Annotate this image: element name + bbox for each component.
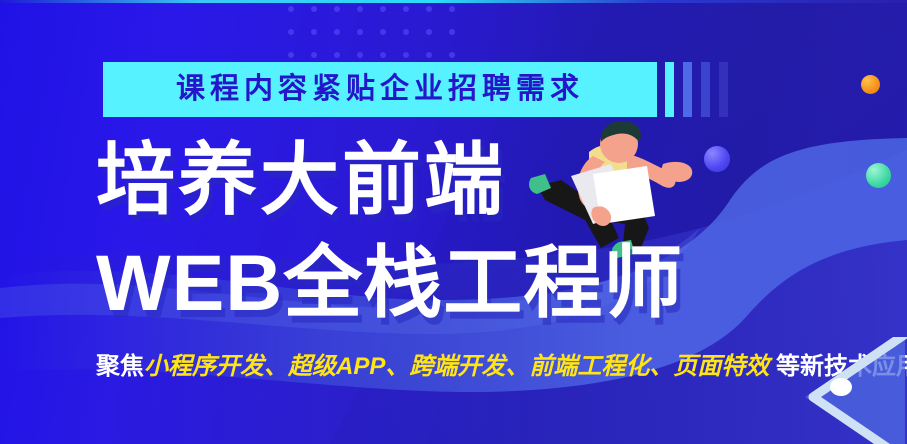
grid-dot [311, 29, 317, 35]
grid-dot [334, 52, 340, 58]
sphere-violet-icon [704, 146, 730, 172]
headline-line-1: 培养大前端 [96, 140, 506, 219]
dot-grid-decoration [288, 6, 456, 52]
subtitle-highlight: 小程序开发、超级APP、跨端开发、前端工程化、页面特效 [144, 353, 769, 380]
grid-dot [426, 6, 432, 12]
grid-dot [449, 6, 455, 12]
sphere-green-icon [866, 163, 891, 188]
grid-dot [311, 52, 317, 58]
grid-dot [288, 29, 294, 35]
grid-dot [380, 6, 386, 12]
decor-bar-2 [683, 62, 692, 117]
top-accent-line [0, 0, 907, 3]
grid-dot [449, 29, 455, 35]
running-person-with-laptop-illustration [515, 108, 705, 253]
grid-dot [403, 29, 409, 35]
sphere-orange-icon [861, 75, 880, 94]
grid-dot [288, 6, 294, 12]
grid-dot [426, 52, 432, 58]
grid-dot [334, 6, 340, 12]
grid-dot [426, 29, 432, 35]
decor-bar-4 [719, 62, 728, 117]
grid-dot [357, 52, 363, 58]
bar-decoration-group [665, 62, 737, 117]
grid-dot [403, 6, 409, 12]
subtitle-lead: 聚焦 [96, 353, 144, 380]
grid-dot [357, 6, 363, 12]
headline-line-2: WEB全栈工程师 [96, 243, 683, 322]
grid-dot [449, 52, 455, 58]
promo-banner: 课程内容紧贴企业招聘需求 培养大前端 WEB全栈工程师 聚焦小程序开发、超级AP… [0, 0, 907, 444]
grid-dot [403, 52, 409, 58]
tagline-row: 课程内容紧贴企业招聘需求 [103, 62, 737, 117]
decor-bar-3 [701, 62, 710, 117]
tagline-text: 课程内容紧贴企业招聘需求 [176, 75, 584, 104]
grid-dot [334, 29, 340, 35]
grid-dot [288, 52, 294, 58]
grid-dot [357, 29, 363, 35]
grid-dot [311, 6, 317, 12]
decor-bar-1 [665, 62, 674, 117]
grid-dot [380, 52, 386, 58]
tablet-device-icon [783, 337, 907, 444]
grid-dot [380, 29, 386, 35]
tagline-box: 课程内容紧贴企业招聘需求 [103, 62, 657, 117]
